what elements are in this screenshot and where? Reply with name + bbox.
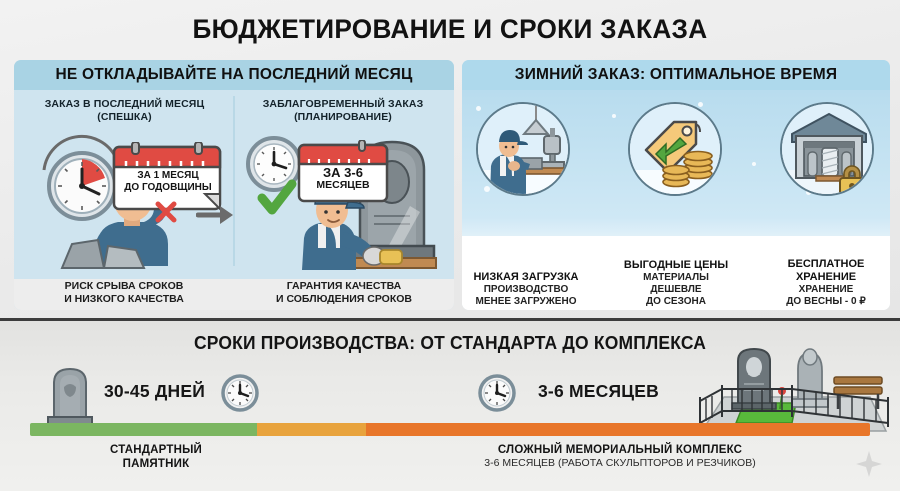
left-timeline-caption-line1: СТАНДАРТНЫЙ — [36, 443, 276, 457]
broken-stone-icon — [58, 230, 148, 270]
deadline-badge-3-6-months: ЗА 3-6 МЕСЯЦЕВ — [296, 140, 392, 202]
right-item-1-caption: НИЗКАЯ ЗАГРУЗКА ПРОИЗВОДСТВО МЕНЕЕ ЗАГРУ… — [462, 271, 596, 308]
right-item-2-heading: ВЫГОДНЫЕ ЦЕНЫ — [606, 259, 746, 272]
right-timeline-caption-line1: СЛОЖНЫЙ МЕМОРИАЛЬНЫЙ КОМПЛЕКС — [400, 443, 840, 457]
snowflake-icon — [476, 106, 481, 111]
deadline-badge-1-month: ЗА 1 МЕСЯЦ ДО ГОДОВЩИНЫ — [110, 142, 228, 208]
timeline-segment-transition — [257, 423, 366, 436]
sparkle-icon — [856, 451, 882, 477]
right-item-2-sub1: МАТЕРИАЛЫ — [606, 272, 746, 284]
badge-1-line1: ЗА 1 МЕСЯЦ — [118, 170, 218, 182]
right-timeline-caption-line2: 3-6 МЕСЯЦЕВ (РАБОТА СКУЛЬПТОРОВ И РЕЗЧИК… — [400, 457, 840, 470]
left-col1-caption: РИСК СРЫВА СРОКОВ И НИЗКОГО КАЧЕСТВА — [24, 280, 224, 306]
right-item-1-heading: НИЗКАЯ ЗАГРУЗКА — [462, 271, 596, 284]
badge-2-line1: ЗА 3-6 — [300, 166, 386, 179]
panel-right-header: ЗИМНИЙ ЗАКАЗ: ОПТИМАЛЬНОЕ ВРЕМЯ — [462, 60, 890, 90]
production-timeline-bar — [30, 423, 870, 436]
right-item-3-heading2: ХРАНЕНИЕ — [756, 271, 890, 284]
left-timeline-caption-line2: ПАМЯТНИК — [36, 457, 276, 471]
left-col2-title-line1: ЗАБЛАГОВРЕМЕННЫЙ ЗАКАЗ — [240, 98, 446, 111]
left-col1-title: ЗАКАЗ В ПОСЛЕДНИЙ МЕСЯЦ (СПЕШКА) — [22, 98, 227, 124]
panel-avoid-last-month: НЕ ОТКЛАДЫВАЙТЕ НА ПОСЛЕДНИЙ МЕСЯЦ ЗАКАЗ… — [14, 60, 454, 310]
right-item-1-sub2: МЕНЕЕ ЗАГРУЖЕНО — [462, 296, 596, 308]
panel-left-header: НЕ ОТКЛАДЫВАЙТЕ НА ПОСЛЕДНИЙ МЕСЯЦ — [14, 60, 454, 90]
left-timeline-caption: СТАНДАРТНЫЙ ПАМЯТНИК — [36, 443, 276, 471]
infographic-root: БЮДЖЕТИРОВАНИЕ И СРОКИ ЗАКАЗА НЕ ОТКЛАДЫ… — [0, 0, 900, 491]
panel-right-body: НИЗКАЯ ЗАГРУЗКА ПРОИЗВОДСТВО МЕНЕЕ ЗАГРУ… — [462, 90, 890, 310]
workshop-worker-icon — [476, 102, 570, 196]
price-tag-discount-icon — [628, 102, 722, 196]
snowflake-icon — [698, 102, 703, 107]
right-duration-label: 3-6 МЕСЯЦЕВ — [538, 381, 659, 402]
bottom-section: СРОКИ ПРОИЗВОДСТВА: ОТ СТАНДАРТА ДО КОМП… — [0, 318, 900, 491]
right-item-2-caption: ВЫГОДНЫЕ ЦЕНЫ МАТЕРИАЛЫ ДЕШЕВЛЕ ДО СЕЗОН… — [606, 259, 746, 308]
left-col1-caption-line1: РИСК СРЫВА СРОКОВ — [24, 280, 224, 293]
page-title: БЮДЖЕТИРОВАНИЕ И СРОКИ ЗАКАЗА — [14, 14, 887, 45]
timeline-segment-complex — [366, 423, 870, 436]
left-col1-title-line2: (СПЕШКА) — [22, 111, 227, 124]
badge-1-line2: ДО ГОДОВЩИНЫ — [118, 182, 218, 194]
right-item-3-caption: БЕСПЛАТНОЕ ХРАНЕНИЕ ХРАНЕНИЕ ДО ВЕСНЫ - … — [756, 258, 890, 308]
clock-icon — [220, 373, 260, 413]
left-duration-label: 30-45 ДНЕЙ — [104, 381, 205, 402]
panel-left-body: ЗАКАЗ В ПОСЛЕДНИЙ МЕСЯЦ (СПЕШКА) ЗАБЛАГО… — [14, 90, 454, 310]
panel-left-divider — [233, 96, 235, 266]
right-item-3-heading1: БЕСПЛАТНОЕ — [756, 258, 890, 271]
clock-icon — [477, 373, 517, 413]
warehouse-lock-icon — [780, 102, 874, 196]
top-section: БЮДЖЕТИРОВАНИЕ И СРОКИ ЗАКАЗА НЕ ОТКЛАДЫ… — [0, 0, 900, 318]
snowflake-icon — [484, 186, 490, 192]
gravestone-icon — [44, 363, 96, 425]
left-col1-caption-line2: И НИЗКОГО КАЧЕСТВА — [24, 293, 224, 306]
cross-mark-icon — [154, 200, 178, 224]
left-col2-caption: ГАРАНТИЯ КАЧЕСТВА И СОБЛЮДЕНИЯ СРОКОВ — [242, 280, 446, 306]
arrow-right-icon — [196, 202, 234, 228]
snowflake-icon — [752, 162, 756, 166]
left-col1-title-line1: ЗАКАЗ В ПОСЛЕДНИЙ МЕСЯЦ — [22, 98, 227, 111]
right-item-2-sub2: ДЕШЕВЛЕ — [606, 284, 746, 296]
right-item-1-sub1: ПРОИЗВОДСТВО — [462, 284, 596, 296]
left-col2-caption-line1: ГАРАНТИЯ КАЧЕСТВА — [242, 280, 446, 293]
right-item-3-sub2: ДО ВЕСНЫ - 0 ₽ — [756, 296, 890, 308]
right-timeline-caption: СЛОЖНЫЙ МЕМОРИАЛЬНЫЙ КОМПЛЕКС 3-6 МЕСЯЦЕ… — [400, 443, 840, 470]
left-col2-caption-line2: И СОБЛЮДЕНИЯ СРОКОВ — [242, 293, 446, 306]
panel-winter-order: ЗИМНИЙ ЗАКАЗ: ОПТИМАЛЬНОЕ ВРЕМЯ — [462, 60, 890, 310]
badge-2-line2: МЕСЯЦЕВ — [300, 179, 386, 192]
right-item-2-sub3: ДО СЕЗОНА — [606, 296, 746, 308]
right-item-3-sub1: ХРАНЕНИЕ — [756, 284, 890, 296]
snowflake-icon — [612, 114, 616, 118]
timeline-segment-standard — [30, 423, 257, 436]
